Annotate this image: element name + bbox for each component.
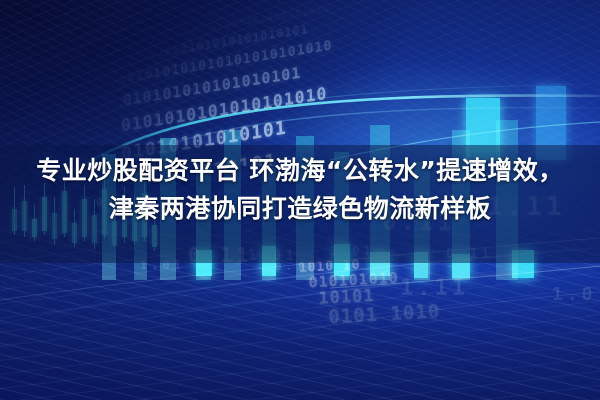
headline-line-1: 专业炒股配资平台 环渤海“公转水”提速增效， — [0, 152, 600, 190]
headline: 专业炒股配资平台 环渤海“公转水”提速增效， 津秦两港协同打造绿色物流新样板 — [0, 152, 600, 228]
banner-image: 1010101010101010101010101010101010101010… — [0, 0, 600, 400]
headline-line-2: 津秦两港协同打造绿色物流新样板 — [0, 190, 600, 228]
diagonal-weave-pattern-d — [0, 250, 600, 400]
